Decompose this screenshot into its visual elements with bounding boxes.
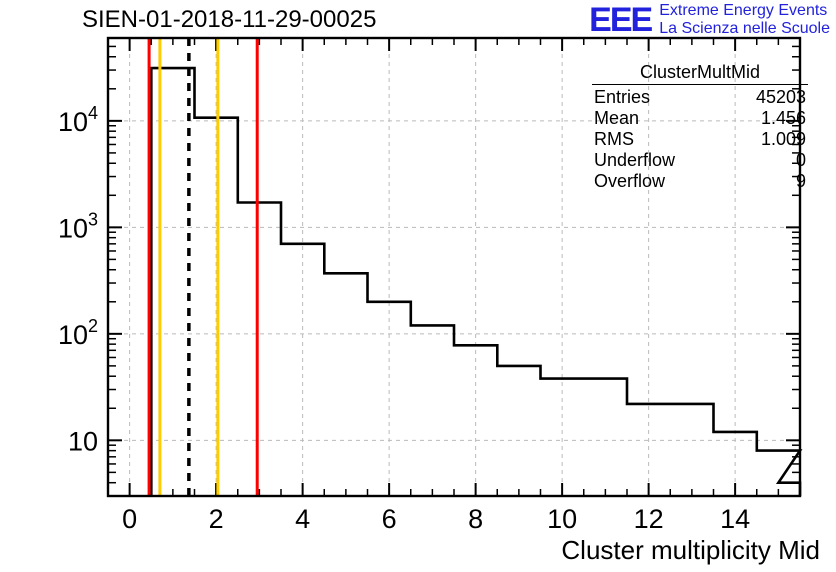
eee-logo-line1: Extreme Energy Events <box>659 2 830 20</box>
stats-value: 1.009 <box>761 129 806 150</box>
y-tick-label: 103 <box>58 209 98 243</box>
x-axis-title: Cluster multiplicity Mid <box>561 535 820 566</box>
y-tick-label: 102 <box>58 316 98 350</box>
stats-key: Overflow <box>594 171 665 192</box>
x-tick-label: 0 <box>122 504 137 534</box>
stats-value: 9 <box>796 171 806 192</box>
stats-title: ClusterMultMid <box>592 62 808 85</box>
x-tick-label: 14 <box>720 504 750 534</box>
stats-value: 1.456 <box>761 108 806 129</box>
y-tick-label: 104 <box>58 103 98 137</box>
x-tick-label: 2 <box>209 504 224 534</box>
stats-key: Mean <box>594 108 639 129</box>
y-tick-label: 10 <box>68 426 98 456</box>
eee-logo-mark: EEE <box>589 3 651 37</box>
stats-row: Entries45203 <box>572 87 812 108</box>
stats-value: 0 <box>796 150 806 171</box>
stats-row: Mean1.456 <box>572 108 812 129</box>
page-title: SIEN-01-2018-11-29-00025 <box>82 6 376 34</box>
stats-row: RMS1.009 <box>572 129 812 150</box>
stats-key: Underflow <box>594 150 675 171</box>
x-tick-label: 10 <box>547 504 577 534</box>
histogram-canvas: SIEN-01-2018-11-29-00025 EEE Extreme Ene… <box>0 0 836 572</box>
eee-logo: EEE Extreme Energy Events La Scienza nel… <box>589 2 830 38</box>
stats-row: Underflow0 <box>572 150 812 171</box>
stats-key: Entries <box>594 87 650 108</box>
stats-rows: Entries45203Mean1.456RMS1.009Underflow0O… <box>572 87 812 192</box>
stats-value: 45203 <box>756 87 806 108</box>
x-tick-label: 6 <box>382 504 397 534</box>
stats-box: ClusterMultMid Entries45203Mean1.456RMS1… <box>572 62 812 192</box>
x-tick-label: 4 <box>295 504 310 534</box>
stats-row: Overflow9 <box>572 171 812 192</box>
eee-logo-line2: La Scienza nelle Scuole <box>659 20 830 38</box>
stats-key: RMS <box>594 129 634 150</box>
x-tick-label: 8 <box>468 504 483 534</box>
x-tick-label: 12 <box>634 504 664 534</box>
